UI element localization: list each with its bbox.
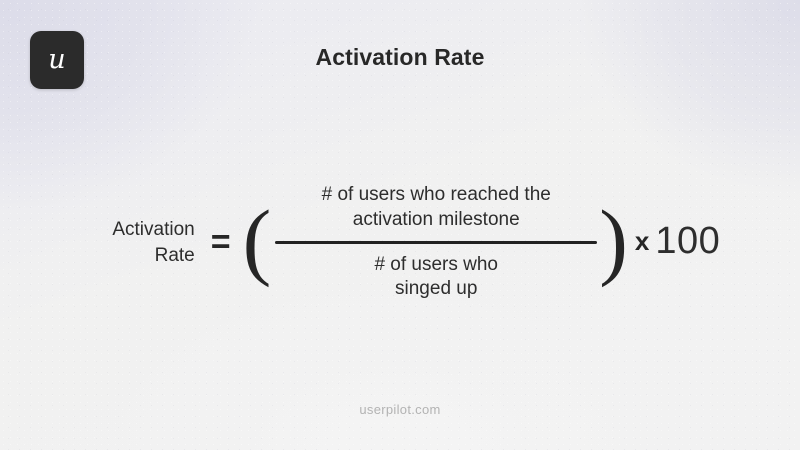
- fraction-numerator: # of users who reached the activation mi…: [322, 183, 551, 241]
- equals-symbol: =: [211, 225, 231, 259]
- fraction: # of users who reached the activation mi…: [275, 183, 597, 301]
- multiply-symbol: x: [635, 226, 649, 257]
- paren-open: (: [243, 197, 272, 283]
- fraction-denominator: # of users who singed up: [374, 244, 498, 302]
- formula-left-label: Activation Rate: [80, 217, 195, 268]
- formula-expression: Activation Rate = ( # of users who reach…: [0, 160, 800, 325]
- page-title: Activation Rate: [0, 44, 800, 71]
- footer-website: userpilot.com: [0, 402, 800, 417]
- infographic-canvas: u Activation Rate Activation Rate = ( # …: [0, 0, 800, 450]
- paren-close: ): [599, 197, 628, 283]
- multiplier-value: 100: [655, 220, 720, 263]
